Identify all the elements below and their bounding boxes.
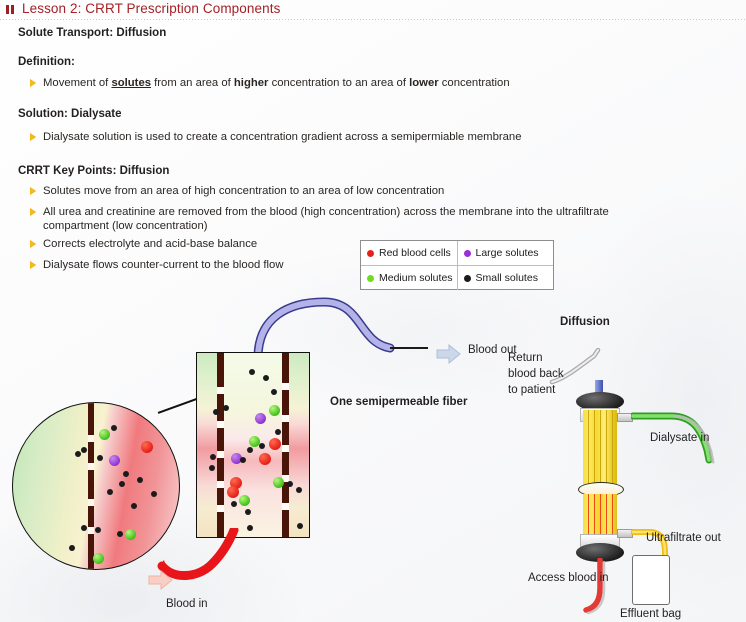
particle-small-solute (137, 477, 143, 483)
bullet-triangle-icon (30, 187, 36, 195)
bullet-text: Dialysate solution is used to create a c… (43, 130, 521, 144)
particle-red-blood-cell (141, 441, 153, 453)
particle-red-blood-cell (259, 453, 271, 465)
membrane-pore (282, 383, 289, 390)
particle-small-solute (271, 389, 277, 395)
particle-small-solute (209, 465, 215, 471)
particle-large-solute (255, 413, 266, 424)
membrane-pore (282, 503, 289, 510)
particle-small-solute (275, 429, 281, 435)
section-heading-solution: Solution: Dialysate (18, 108, 122, 120)
bullet-solution-1: Dialysate solution is used to create a c… (30, 130, 630, 144)
bullet-triangle-icon (30, 208, 36, 216)
bullet-text: All urea and creatinine are removed from… (43, 205, 630, 233)
particle-small-solute (151, 491, 157, 497)
particle-small-solute (249, 369, 255, 375)
dialysate-in-label: Dialysate in (650, 432, 709, 444)
particle-small-solute (107, 489, 113, 495)
blood-in-label: Blood in (166, 598, 208, 610)
section-heading-keypoints: CRRT Key Points: Diffusion (18, 165, 169, 177)
particle-legend: Red blood cells Large solutes Medium sol… (360, 240, 554, 290)
membrane-pore (217, 505, 224, 512)
return-label-line3: to patient (508, 384, 555, 396)
particle-medium-solute (93, 553, 104, 564)
particle-small-solute (240, 457, 246, 463)
bullet-text: Dialysate flows counter-current to the b… (43, 258, 284, 272)
particle-small-solute (231, 501, 237, 507)
legend-dot-purple-icon (464, 250, 471, 257)
grid-squares-icon (6, 5, 17, 14)
particle-small-solute (95, 527, 101, 533)
return-label-line1: Return (508, 352, 543, 364)
legend-dot-green-icon (367, 275, 374, 282)
membrane-pore (282, 445, 289, 452)
membrane-pore (217, 387, 224, 394)
particle-small-solute (223, 405, 229, 411)
effluent-bag (632, 555, 670, 605)
legend-item-small-solutes: Small solutes (457, 266, 554, 290)
membrane-pore (88, 463, 94, 470)
particle-small-solute (123, 471, 129, 477)
hemofilter-title: Diffusion (560, 316, 610, 328)
particle-small-solute (131, 503, 137, 509)
particle-medium-solute (269, 405, 280, 416)
fiber-caption: One semipermeable fiber (330, 396, 467, 408)
legend-row: Red blood cells Large solutes (361, 241, 553, 265)
particle-large-solute (109, 455, 120, 466)
bullet-triangle-icon (30, 240, 36, 248)
particle-small-solute (117, 531, 123, 537)
legend-label: Red blood cells (379, 247, 451, 259)
legend-label: Small solutes (476, 272, 538, 284)
particle-small-solute (210, 454, 216, 460)
particle-small-solute (213, 409, 219, 415)
legend-label: Medium solutes (379, 272, 453, 284)
bullet-triangle-icon (30, 133, 36, 141)
bullet-text: Movement of solutes from an area of high… (43, 76, 510, 90)
particle-small-solute (296, 487, 302, 493)
membrane-pore (217, 451, 224, 458)
legend-item-red-blood-cells: Red blood cells (361, 241, 457, 265)
access-blood-in-label: Access blood in (528, 572, 609, 584)
bullet-keypoint-2: All urea and creatinine are removed from… (30, 205, 630, 233)
particle-small-solute (259, 443, 265, 449)
particle-small-solute (297, 523, 303, 529)
particle-medium-solute (125, 529, 136, 540)
membrane-pore (217, 421, 224, 428)
page-title: Solute Transport: Diffusion (18, 27, 166, 39)
membrane-pore (88, 435, 94, 442)
legend-dot-black-icon (464, 275, 471, 282)
particle-small-solute (263, 375, 269, 381)
particle-small-solute (247, 447, 253, 453)
bullet-text: Solutes move from an area of high concen… (43, 184, 444, 198)
membrane-pore (282, 415, 289, 422)
ultrafiltrate-out-label: Ultrafiltrate out (646, 532, 721, 544)
particle-small-solute (75, 451, 81, 457)
particle-medium-solute (273, 477, 284, 488)
particle-small-solute (81, 447, 87, 453)
lesson-title: Lesson 2: CRRT Prescription Components (22, 1, 280, 16)
blood-in-arrow-icon (148, 570, 174, 590)
legend-dot-red-icon (367, 250, 374, 257)
particle-small-solute (119, 481, 125, 487)
hemofilter-diagram: Diffusion Return blood back to patient (500, 296, 746, 622)
legend-item-large-solutes: Large solutes (457, 241, 554, 265)
access-blood-in-tube (578, 558, 628, 616)
bullet-triangle-icon (30, 79, 36, 87)
bullet-keypoint-1: Solutes move from an area of high concen… (30, 184, 630, 198)
particle-small-solute (111, 425, 117, 431)
particle-small-solute (287, 481, 293, 487)
particle-red-blood-cell (227, 486, 239, 498)
particle-small-solute (81, 525, 87, 531)
particle-medium-solute (239, 495, 250, 506)
particle-small-solute (245, 509, 251, 515)
bullet-triangle-icon (30, 261, 36, 269)
blood-out-arrow-icon (436, 344, 462, 364)
section-heading-definition: Definition: (18, 56, 75, 68)
legend-row: Medium solutes Small solutes (361, 265, 553, 290)
particle-small-solute (69, 545, 75, 551)
particle-small-solute (97, 455, 103, 461)
membrane-pore (88, 499, 94, 506)
return-label-line2: blood back (508, 368, 564, 380)
legend-label: Large solutes (476, 247, 539, 259)
bullet-definition-1: Movement of solutes from an area of high… (30, 76, 630, 90)
slide-header: Lesson 2: CRRT Prescription Components (0, 0, 746, 20)
bullet-text: Corrects electrolyte and acid-base balan… (43, 237, 257, 251)
effluent-bag-label: Effluent bag (620, 608, 681, 620)
membrane-wall (88, 403, 94, 569)
header-divider (0, 19, 746, 20)
particle-red-blood-cell (269, 438, 281, 450)
semipermeable-fiber-cross-section (196, 352, 310, 538)
membrane-pore (217, 481, 224, 488)
diffusion-diagram: Blood out (0, 296, 746, 622)
particle-medium-solute (99, 429, 110, 440)
legend-item-medium-solutes: Medium solutes (361, 266, 457, 290)
membrane-pore (88, 527, 94, 534)
